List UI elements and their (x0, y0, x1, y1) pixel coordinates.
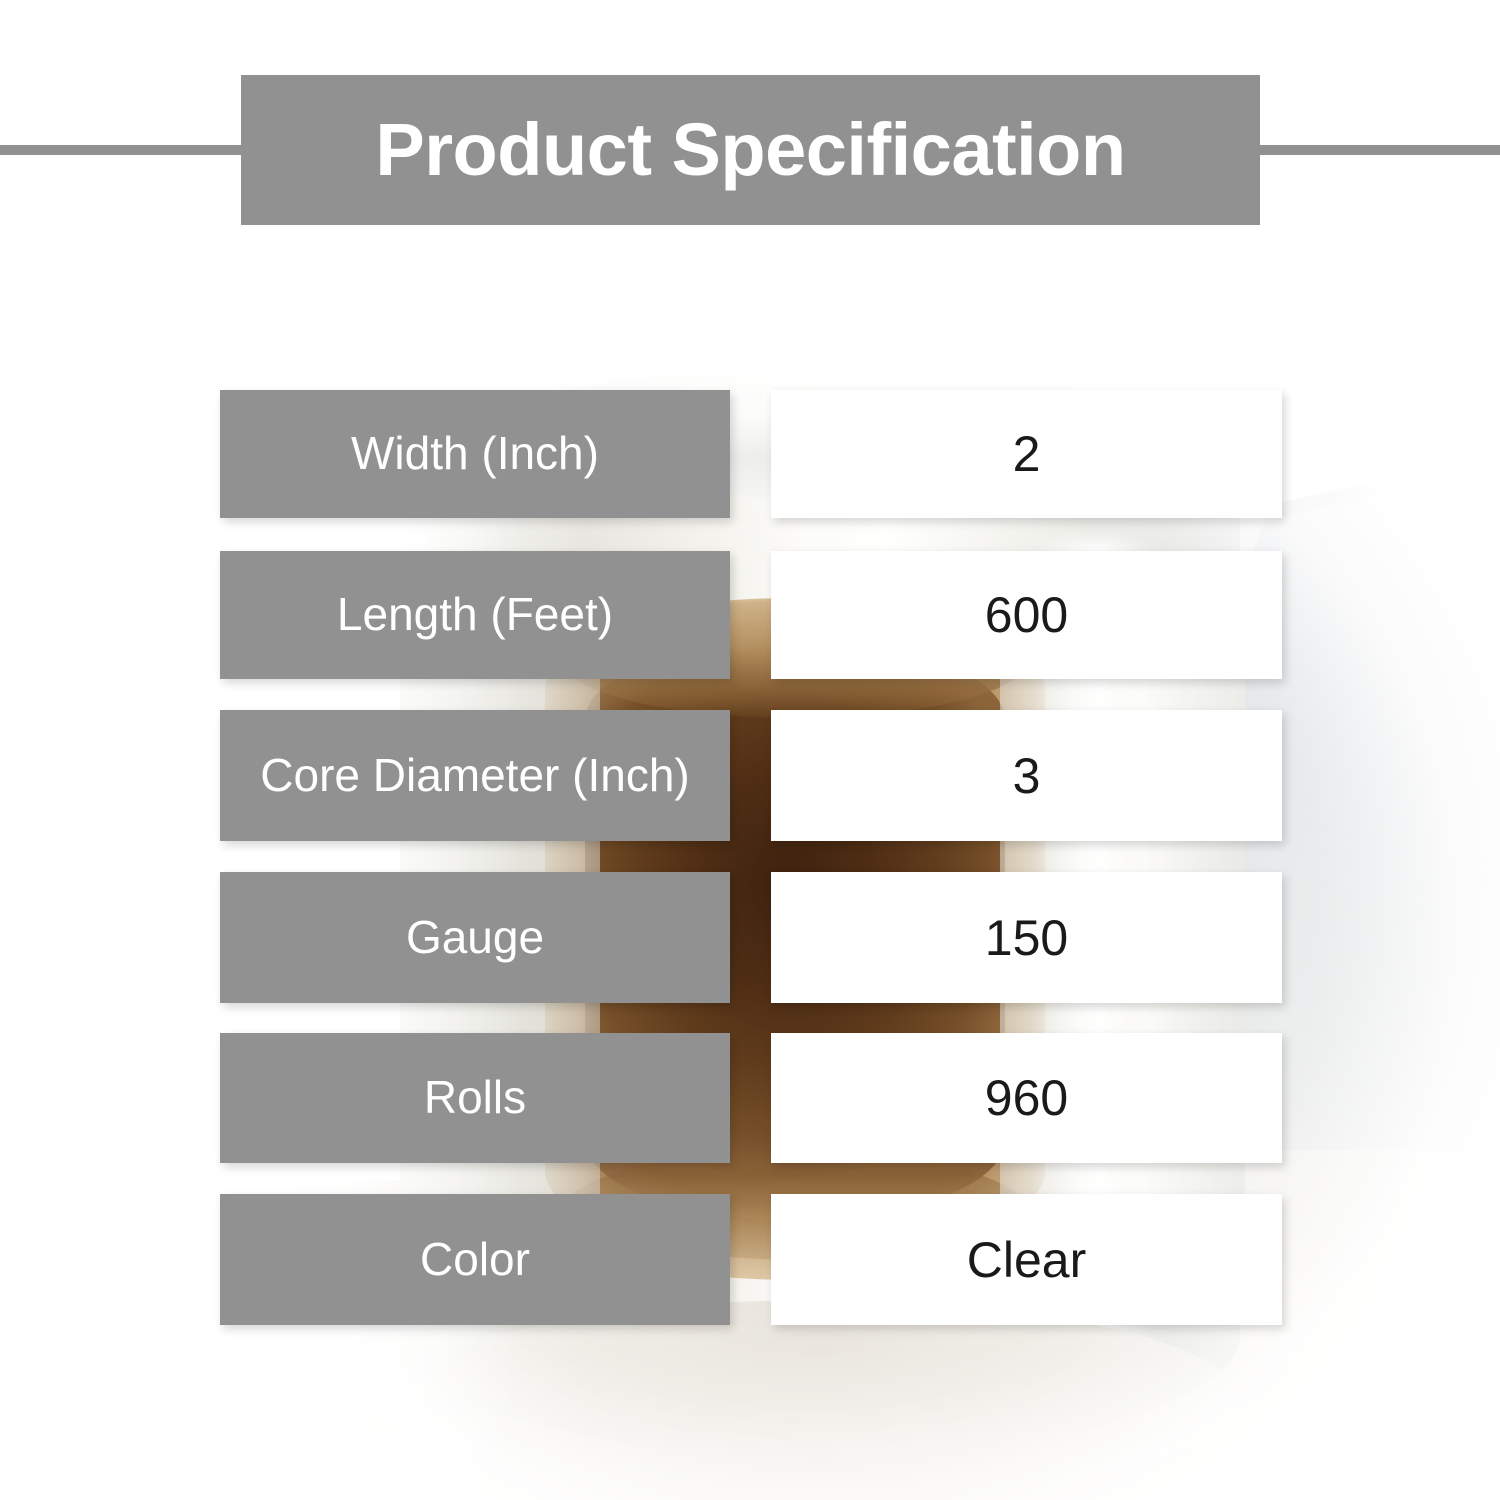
spec-label-cell: Gauge (220, 872, 730, 1003)
spec-label-text: Length (Feet) (323, 590, 627, 640)
spec-label-text: Color (406, 1235, 544, 1285)
spec-value-text: 2 (999, 427, 1055, 481)
spec-label-text: Gauge (392, 913, 558, 963)
spec-label-text: Core Diameter (Inch) (246, 751, 703, 801)
table-row: Gauge 150 (220, 872, 1282, 1003)
spec-label-text: Width (Inch) (337, 429, 613, 479)
spec-label-cell: Length (Feet) (220, 551, 730, 679)
spec-label-cell: Core Diameter (Inch) (220, 710, 730, 841)
table-row: Core Diameter (Inch) 3 (220, 710, 1282, 841)
spec-value-text: 3 (999, 749, 1055, 803)
spec-value-text: 960 (971, 1071, 1082, 1125)
spec-value-text: 600 (971, 588, 1082, 642)
spec-value-cell: 960 (771, 1033, 1282, 1163)
spec-label-text: Rolls (410, 1073, 540, 1123)
table-row: Color Clear (220, 1194, 1282, 1325)
spec-value-cell: 600 (771, 551, 1282, 679)
spec-value-cell: Clear (771, 1194, 1282, 1325)
spec-label-cell: Width (Inch) (220, 390, 730, 518)
table-row: Width (Inch) 2 (220, 390, 1282, 518)
spec-label-cell: Color (220, 1194, 730, 1325)
spec-value-text: 150 (971, 911, 1082, 965)
table-row: Length (Feet) 600 (220, 551, 1282, 679)
table-row: Rolls 960 (220, 1033, 1282, 1163)
spec-value-cell: 3 (771, 710, 1282, 841)
specification-table: Width (Inch) 2 Length (Feet) 600 Core Di… (0, 0, 1500, 1500)
spec-value-text: Clear (953, 1233, 1100, 1287)
spec-value-cell: 150 (771, 872, 1282, 1003)
spec-value-cell: 2 (771, 390, 1282, 518)
spec-label-cell: Rolls (220, 1033, 730, 1163)
